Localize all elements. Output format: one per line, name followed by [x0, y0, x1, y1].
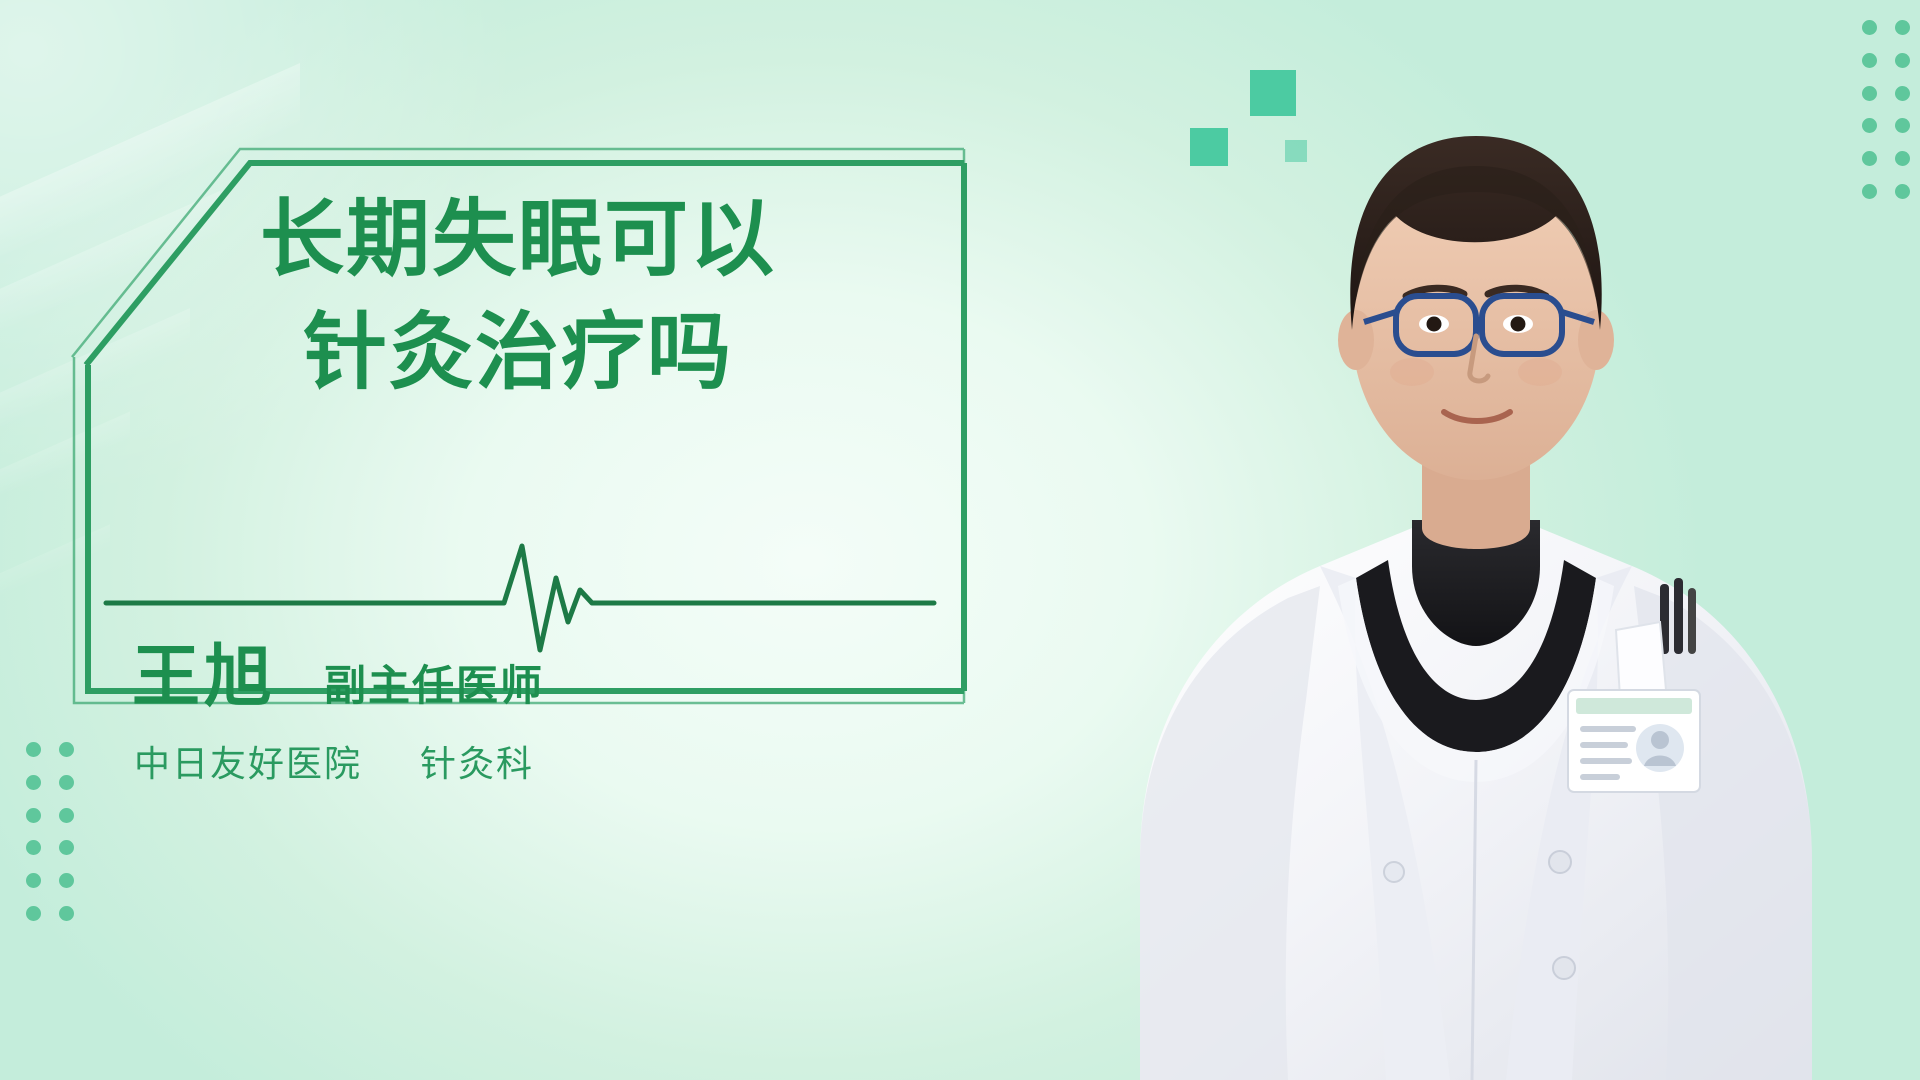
- page-title: 长期失眠可以 针灸治疗吗: [72, 183, 964, 410]
- title-line-1: 长期失眠可以: [260, 190, 776, 288]
- decor-dot: [26, 906, 41, 921]
- dots-bottom-left-upper: [26, 742, 74, 823]
- decor-dot: [59, 775, 74, 790]
- decor-dot: [59, 873, 74, 888]
- decor-dot: [26, 840, 41, 855]
- decor-dot: [26, 873, 41, 888]
- department-name: 针灸科: [420, 735, 534, 787]
- doctor-rank: 副主任医师: [324, 652, 544, 713]
- decor-dot: [26, 808, 41, 823]
- dots-bottom-left-lower: [26, 840, 74, 921]
- video-thumbnail-card: 长期失眠可以 针灸治疗吗 王旭 副主任医师 中日友好医院 针灸科: [0, 0, 1920, 1080]
- decor-dot: [59, 906, 74, 921]
- decor-dot: [59, 742, 74, 757]
- doctor-name: 王旭: [132, 621, 276, 720]
- hospital-name: 中日友好医院: [134, 735, 362, 787]
- decor-dot: [26, 775, 41, 790]
- decor-dot: [59, 840, 74, 855]
- card-content: 长期失眠可以 针灸治疗吗 王旭 副主任医师 中日友好医院 针灸科: [72, 143, 964, 723]
- decor-dot: [26, 742, 41, 757]
- title-line-2: 针灸治疗吗: [72, 296, 964, 409]
- doctor-identity: 王旭 副主任医师: [132, 621, 544, 720]
- decor-dot: [59, 808, 74, 823]
- id-badge-icon: [1568, 690, 1700, 792]
- doctor-photo: [1020, 0, 1920, 1080]
- pocket-pens-icon: [1660, 578, 1696, 654]
- doctor-affiliation: 中日友好医院 针灸科: [134, 735, 534, 787]
